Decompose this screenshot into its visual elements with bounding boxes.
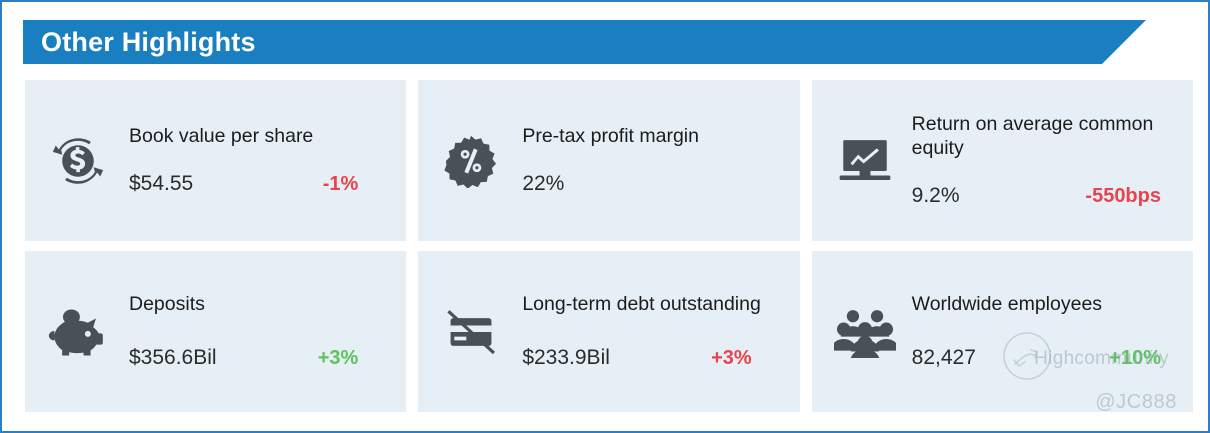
metric-value: $54.55: [129, 172, 193, 196]
metric-value: 9.2%: [912, 184, 960, 208]
metric-title: Long-term debt outstanding: [522, 293, 785, 317]
metric-title: Worldwide employees: [912, 293, 1179, 317]
metric-card-return-on-average-common-equity: Return on average common equity 9.2% -55…: [812, 80, 1193, 241]
metric-card-body: Return on average common equity 9.2% -55…: [912, 80, 1179, 241]
metric-figures: 9.2% -550bps: [912, 184, 1179, 208]
metric-card-book-value-per-share: Book value per share $54.55 -1%: [25, 80, 406, 241]
metric-value: 22%: [522, 172, 564, 196]
metric-title: Book value per share: [129, 125, 392, 149]
metric-figures: $54.55 -1%: [129, 172, 392, 196]
metric-card-body: Long-term debt outstanding $233.9Bil +3%: [522, 251, 785, 412]
metric-card-body: Worldwide employees 82,427 +10%: [912, 251, 1179, 412]
metric-title: Pre-tax profit margin: [522, 125, 785, 149]
metric-delta: +3%: [711, 347, 786, 370]
people-group-icon: [834, 301, 896, 363]
metric-value: 82,427: [912, 346, 976, 370]
metric-title: Return on average common equity: [912, 113, 1179, 161]
metric-title: Deposits: [129, 293, 392, 317]
metric-card-body: Book value per share $54.55 -1%: [129, 80, 392, 241]
metric-value: $356.6Bil: [129, 346, 217, 370]
page-title: Other Highlights: [41, 20, 256, 64]
metric-value: $233.9Bil: [522, 346, 610, 370]
slide-inner: Other Highlights Book value per share $5…: [7, 7, 1203, 426]
metric-card-body: Pre-tax profit margin 22%: [522, 80, 785, 241]
metric-card-deposits: Deposits $356.6Bil +3%: [25, 251, 406, 412]
percent-badge-icon: [440, 130, 502, 192]
metric-delta: -1%: [323, 173, 393, 196]
metric-delta: +10%: [1109, 347, 1179, 370]
credit-card-disabled-icon: [440, 301, 502, 363]
dollar-refresh-icon: [47, 130, 109, 192]
section-header-banner: Other Highlights: [23, 20, 1146, 64]
laptop-chart-icon: [834, 130, 896, 192]
metric-card-worldwide-employees: Worldwide employees 82,427 +10%: [812, 251, 1193, 412]
metrics-grid: Book value per share $54.55 -1%: [25, 80, 1193, 412]
metric-delta: +3%: [318, 347, 393, 370]
metric-figures: $233.9Bil +3%: [522, 346, 785, 370]
metric-card-body: Deposits $356.6Bil +3%: [129, 251, 392, 412]
slide-root: Other Highlights Book value per share $5…: [0, 0, 1210, 433]
metric-figures: 82,427 +10%: [912, 346, 1179, 370]
metric-card-long-term-debt-outstanding: Long-term debt outstanding $233.9Bil +3%: [418, 251, 799, 412]
metric-delta: -550bps: [1085, 185, 1179, 208]
metric-figures: 22%: [522, 172, 785, 196]
piggy-bank-icon: [47, 301, 109, 363]
metric-figures: $356.6Bil +3%: [129, 346, 392, 370]
metric-card-pre-tax-profit-margin: Pre-tax profit margin 22%: [418, 80, 799, 241]
